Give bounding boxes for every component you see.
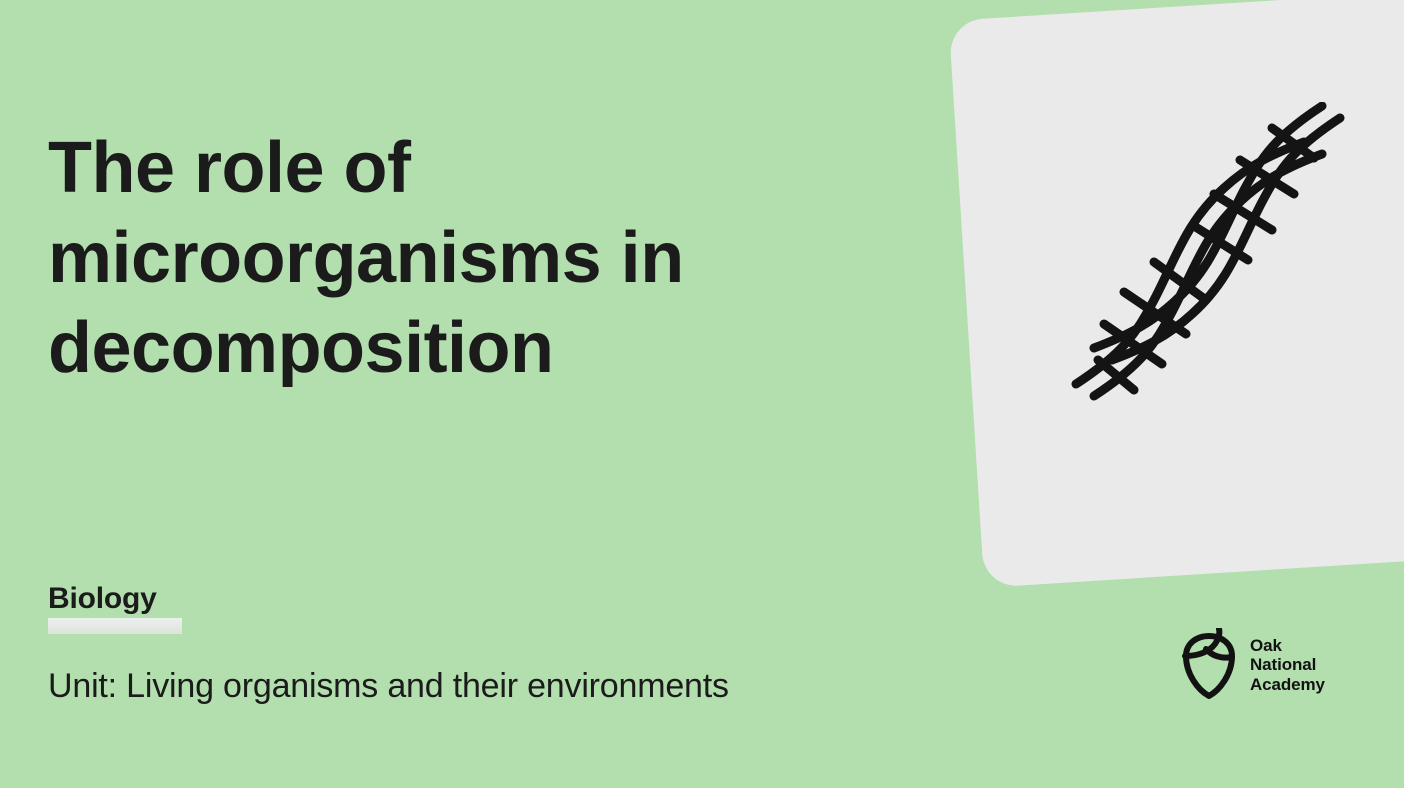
subject-label: Biology (48, 580, 157, 618)
logo-wordmark: Oak National Academy (1250, 636, 1325, 695)
logo-line-2: National (1250, 655, 1325, 675)
unit-value: Living organisms and their environments (126, 667, 729, 705)
illustration-inner (966, 4, 1404, 572)
logo-line-3: Academy (1250, 675, 1325, 695)
dna-double-helix-icon (1058, 102, 1358, 402)
subject-highlight-bar (48, 618, 182, 634)
lesson-meta: Biology Unit: Living organisms and their… (48, 580, 928, 618)
lesson-title: The role of microorganisms in decomposit… (48, 123, 848, 393)
oak-national-academy-logo: Oak National Academy (1178, 628, 1325, 702)
unit-label: Unit: (48, 667, 117, 705)
illustration-card (949, 0, 1404, 588)
acorn-icon (1178, 628, 1240, 702)
subject-wrap: Biology (48, 580, 157, 618)
unit-line: Unit: Living organisms and their environ… (48, 665, 729, 707)
logo-line-1: Oak (1250, 636, 1325, 656)
lesson-title-slide: The role of microorganisms in decomposit… (0, 0, 1404, 788)
